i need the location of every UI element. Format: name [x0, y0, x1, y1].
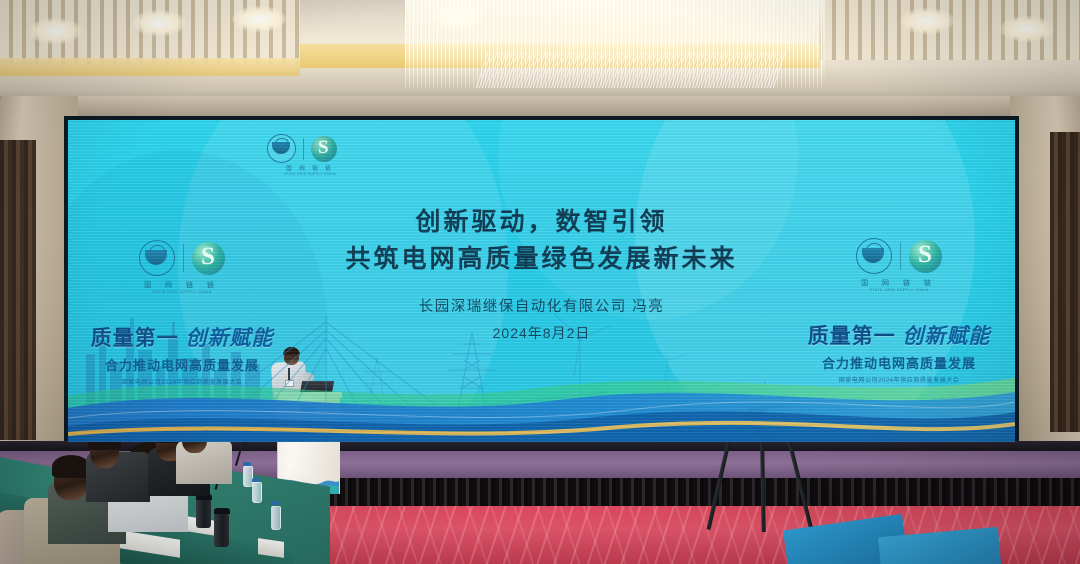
supply-chain-s-logo-icon — [192, 242, 225, 275]
ceiling-gold-trim-left — [0, 58, 300, 76]
right-banner: 国 网 链 链 STATE GRID SUPPLY CHAIN 质量第一 创新赋… — [793, 238, 1005, 384]
thermos-flask — [214, 513, 229, 547]
left-banner-headline-b: 创新赋能 — [185, 327, 273, 350]
ceiling — [0, 0, 1080, 104]
curtain-right — [1050, 132, 1080, 432]
bottle-cap — [252, 478, 260, 482]
curtain-left — [0, 140, 36, 440]
right-banner-headline-b: 创新赋能 — [902, 325, 990, 348]
right-banner-event-line: 国家电网公司2024年供应商质量发展大会 — [793, 375, 1005, 384]
supply-chain-s-logo-icon — [909, 240, 942, 273]
ceiling-downlight — [1000, 16, 1054, 42]
state-grid-emblem-icon — [856, 238, 892, 274]
right-banner-headline-a: 质量第一 — [808, 325, 896, 348]
right-banner-subhead: 合力推动电网高质量发展 — [793, 353, 1005, 372]
right-banner-logo-cn: 国 网 链 链 — [793, 278, 1005, 288]
left-banner: 国 网 链 链 STATE GRID SUPPLY CHAIN 质量第一 创新赋… — [76, 240, 288, 386]
bottle-cap — [271, 501, 279, 505]
screen-logo-cn-text: 国 网 链 链 — [267, 164, 353, 172]
state-grid-emblem-icon — [267, 134, 296, 163]
left-banner-logos — [76, 240, 288, 276]
audience-person-hair — [52, 455, 90, 478]
right-banner-logo-en: STATE GRID SUPPLY CHAIN — [793, 288, 1005, 292]
left-banner-subhead: 合力推动电网高质量发展 — [76, 355, 288, 374]
left-banner-logo-en: STATE GRID SUPPLY CHAIN — [76, 290, 288, 294]
ceiling-downlight — [28, 18, 82, 44]
ceiling-downlight — [900, 8, 954, 34]
ceiling-downlight — [132, 10, 186, 36]
logo-divider — [183, 244, 184, 272]
thermos-cap — [214, 508, 230, 514]
water-bottle — [252, 482, 262, 503]
thermos-flask — [196, 498, 211, 528]
led-screen: 国 网 链 链 STATE GRID SUPPLY CHAIN 创新驱动，数智引… — [68, 120, 1015, 442]
left-banner-logo-cn: 国 网 链 链 — [76, 280, 288, 290]
supply-chain-s-logo-icon — [311, 136, 337, 162]
left-banner-event-line: 国家电网公司2024年供应商质量发展大会 — [76, 377, 288, 386]
ceiling-downlight — [232, 6, 286, 32]
left-banner-headline-a: 质量第一 — [91, 327, 179, 350]
bottle-cap — [243, 462, 251, 466]
logo-divider — [303, 138, 304, 160]
presentation-title-line1: 创新驱动，数智引领 — [68, 202, 1015, 238]
state-grid-emblem-icon — [139, 240, 175, 276]
logo-divider — [900, 242, 901, 270]
right-banner-logos — [793, 238, 1005, 274]
right-banner-headline: 质量第一 创新赋能 — [793, 320, 1005, 350]
left-banner-headline: 质量第一 创新赋能 — [76, 322, 288, 352]
conference-photo: 国 网 链 链 STATE GRID SUPPLY CHAIN 创新驱动，数智引… — [0, 0, 1080, 564]
water-bottle — [271, 506, 281, 530]
screen-logo-en-text: STATE GRID SUPPLY CHAIN — [264, 172, 356, 176]
screen-center-logo — [267, 134, 337, 163]
